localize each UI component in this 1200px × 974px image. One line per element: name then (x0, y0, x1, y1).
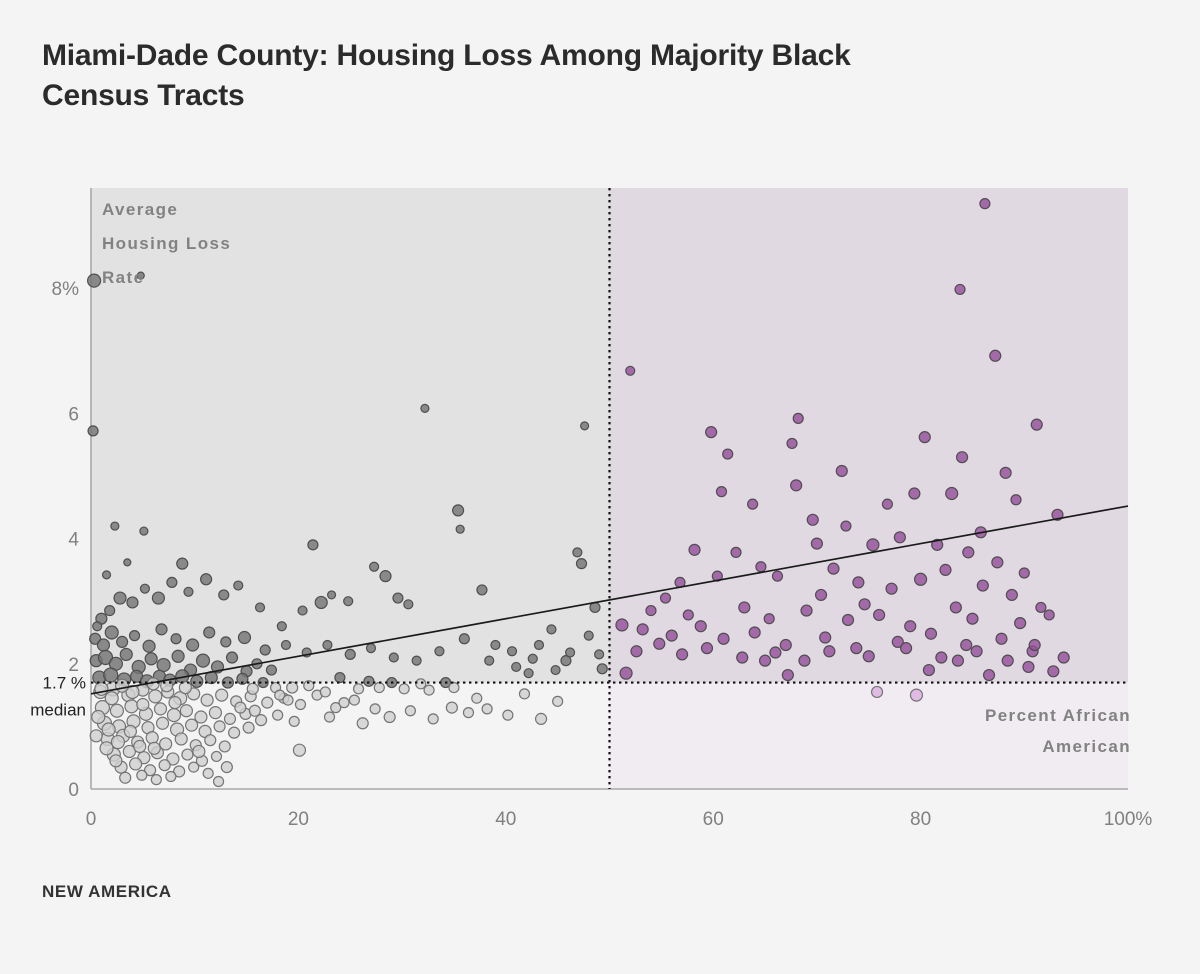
data-point (706, 427, 717, 438)
data-point (219, 741, 230, 752)
data-point (910, 689, 922, 701)
data-point (145, 653, 157, 665)
data-point (289, 716, 299, 726)
data-point (393, 593, 403, 603)
data-point (235, 702, 246, 713)
data-point (992, 557, 1003, 568)
data-point (793, 413, 803, 423)
chart-plot-area: 02468%020406080100%AverageHousing LossRa… (0, 0, 1200, 974)
data-point (273, 710, 283, 720)
data-point (116, 679, 129, 692)
data-point (370, 562, 379, 571)
data-point (421, 404, 429, 412)
data-point (182, 749, 193, 760)
data-point (683, 610, 693, 620)
data-point (772, 571, 782, 581)
data-point (977, 580, 988, 591)
data-point (238, 632, 250, 644)
data-point (281, 641, 290, 650)
data-point (867, 539, 879, 551)
data-point (482, 704, 492, 714)
data-point (701, 643, 712, 654)
data-point (120, 772, 131, 783)
data-point (298, 606, 307, 615)
data-point (187, 639, 199, 651)
data-point (841, 521, 851, 531)
data-point (100, 742, 113, 755)
data-point (117, 636, 128, 647)
data-point (295, 699, 305, 709)
data-point (807, 514, 818, 525)
data-point (111, 522, 119, 530)
scatter-chart-svg: 02468%020406080100%AverageHousing LossRa… (0, 0, 1200, 974)
data-point (863, 651, 874, 662)
data-point (97, 639, 109, 651)
y-tick-label: 6 (68, 404, 79, 425)
data-point (581, 422, 589, 430)
data-point (354, 684, 364, 694)
data-point (260, 645, 270, 655)
data-point (936, 652, 947, 663)
data-point (851, 643, 862, 654)
data-point (90, 730, 102, 742)
data-point (534, 641, 543, 650)
data-point (547, 625, 556, 634)
data-point (620, 667, 632, 679)
y-tick-label: 4 (68, 530, 79, 551)
data-point (971, 646, 982, 657)
data-point (428, 714, 438, 724)
data-point (689, 544, 700, 555)
data-point (787, 438, 797, 448)
data-point (130, 631, 140, 641)
data-point (894, 532, 905, 543)
data-point (780, 640, 791, 651)
data-point (799, 655, 810, 666)
data-point (584, 631, 593, 640)
data-point (886, 583, 897, 594)
data-point (782, 670, 793, 681)
data-point (227, 652, 238, 663)
data-point (216, 689, 228, 701)
data-point (984, 670, 995, 681)
data-point (731, 547, 741, 557)
data-point (940, 564, 951, 575)
data-point (459, 634, 469, 644)
data-point (955, 284, 965, 294)
data-point (1011, 495, 1021, 505)
data-point (110, 704, 123, 717)
data-point (151, 775, 161, 785)
y-tick-label: 0 (68, 780, 79, 801)
data-point (723, 449, 733, 459)
data-point (88, 426, 98, 436)
data-point (157, 717, 169, 729)
data-point (152, 592, 164, 604)
data-point (748, 499, 758, 509)
data-point (167, 709, 180, 722)
data-point (345, 649, 355, 659)
data-point (456, 525, 464, 533)
data-point (1036, 602, 1046, 612)
data-point (553, 696, 563, 706)
data-point (124, 725, 136, 737)
x-tick-label: 40 (495, 809, 516, 830)
data-point (308, 540, 318, 550)
data-point (277, 622, 286, 631)
data-point (828, 563, 839, 574)
data-point (175, 733, 187, 745)
data-point (449, 683, 459, 693)
data-point (980, 199, 990, 209)
data-point (915, 573, 927, 585)
data-point (191, 675, 203, 687)
data-point (374, 683, 384, 693)
data-point (243, 722, 254, 733)
data-point (315, 596, 327, 608)
data-point (189, 762, 199, 772)
data-point (125, 700, 138, 713)
data-point (134, 740, 146, 752)
data-point (677, 649, 688, 660)
data-point (961, 640, 972, 651)
data-point (508, 647, 517, 656)
data-point (631, 646, 642, 657)
data-point (157, 659, 170, 672)
data-point (249, 705, 260, 716)
data-point (528, 654, 537, 663)
data-point (105, 626, 118, 639)
data-point (963, 547, 974, 558)
data-point (737, 652, 748, 663)
data-point (154, 703, 166, 715)
data-point (287, 682, 298, 693)
data-point (718, 633, 729, 644)
data-point (843, 614, 854, 625)
x-tick-label: 0 (86, 809, 97, 830)
data-point (335, 673, 345, 683)
data-point (149, 690, 162, 703)
data-point (124, 559, 131, 566)
data-point (399, 684, 409, 694)
data-point (749, 627, 760, 638)
data-point (503, 710, 513, 720)
data-point (177, 558, 188, 569)
data-point (491, 641, 500, 650)
data-point (328, 591, 336, 599)
data-point (201, 574, 212, 585)
data-point (364, 676, 374, 686)
x-tick-label: 80 (910, 809, 931, 830)
data-point (247, 683, 258, 694)
data-point (209, 707, 221, 719)
data-point (946, 488, 958, 500)
data-point (214, 776, 224, 786)
data-point (172, 650, 184, 662)
data-point (453, 505, 464, 516)
data-point (370, 704, 380, 714)
data-point (262, 697, 273, 708)
data-point (325, 712, 335, 722)
data-point (905, 621, 916, 632)
data-point (760, 655, 771, 666)
data-point (1015, 618, 1026, 629)
data-point (595, 650, 604, 659)
data-point (770, 647, 781, 658)
data-point (882, 499, 892, 509)
data-point (127, 597, 138, 608)
data-point (323, 641, 332, 650)
data-point (357, 718, 368, 729)
data-point (137, 698, 149, 710)
data-point (366, 644, 375, 653)
data-point (88, 274, 101, 287)
data-point (446, 702, 457, 713)
data-point (923, 665, 934, 676)
data-point (919, 432, 930, 443)
data-point (637, 624, 648, 635)
data-point (616, 619, 628, 631)
data-point (204, 627, 215, 638)
data-point (577, 559, 587, 569)
data-point (536, 713, 547, 724)
data-point (646, 606, 656, 616)
data-point (925, 628, 936, 639)
data-point (389, 653, 398, 662)
quadrant-upper-left (91, 188, 610, 683)
x-tick-label: 100% (1104, 809, 1153, 830)
data-point (524, 669, 533, 678)
data-point (193, 745, 205, 757)
data-point (435, 647, 444, 656)
data-point (836, 465, 847, 476)
data-point (102, 723, 115, 736)
data-point (180, 705, 192, 717)
data-point (103, 571, 111, 579)
data-point (1029, 640, 1040, 651)
data-point (221, 637, 231, 647)
brand-logo: NEW AMERICA (42, 882, 172, 902)
data-point (339, 698, 349, 708)
data-point (1058, 652, 1069, 663)
data-point (105, 606, 115, 616)
data-point (256, 603, 265, 612)
data-point (140, 584, 149, 593)
data-point (756, 562, 766, 572)
data-point (105, 692, 118, 705)
data-point (566, 648, 575, 657)
data-point (320, 687, 330, 697)
data-point (293, 744, 305, 756)
data-point (159, 760, 170, 771)
data-point (1019, 568, 1029, 578)
data-point (171, 634, 181, 644)
data-point (853, 577, 864, 588)
data-point (205, 735, 216, 746)
data-point (512, 662, 521, 671)
x-tick-label: 20 (288, 809, 309, 830)
data-point (1048, 666, 1059, 677)
data-point (872, 686, 883, 697)
data-point (167, 577, 177, 587)
data-point (234, 581, 243, 590)
data-point (764, 614, 774, 624)
data-point (219, 590, 229, 600)
data-point (472, 693, 482, 703)
data-point (224, 713, 235, 724)
data-point (130, 758, 142, 770)
data-point (463, 708, 473, 718)
data-point (957, 452, 968, 463)
data-point (169, 697, 181, 709)
data-point (146, 732, 158, 744)
data-point (137, 770, 147, 780)
y-tick-label: 8% (52, 279, 80, 300)
data-point (283, 695, 293, 705)
data-point (1002, 655, 1013, 666)
data-point (404, 600, 413, 609)
data-point (901, 643, 912, 654)
data-point (824, 646, 835, 657)
data-point (519, 689, 529, 699)
data-point (197, 654, 210, 667)
data-point (811, 538, 822, 549)
data-point (203, 768, 213, 778)
data-point (739, 602, 750, 613)
data-point (597, 664, 607, 674)
data-point (950, 602, 961, 613)
data-point (148, 742, 160, 754)
data-point (820, 632, 831, 643)
data-point (380, 571, 391, 582)
x-tick-label: 60 (703, 809, 724, 830)
data-point (1023, 661, 1034, 672)
data-point (573, 548, 582, 557)
data-point (816, 589, 827, 600)
data-point (477, 585, 487, 595)
data-point (229, 727, 240, 738)
data-point (266, 665, 276, 675)
data-point (626, 366, 635, 375)
data-point (424, 685, 434, 695)
data-point (859, 599, 870, 610)
data-point (967, 613, 978, 624)
data-point (791, 480, 802, 491)
quadrant-lower-right (610, 683, 1129, 789)
data-point (412, 656, 421, 665)
data-point (990, 350, 1001, 361)
data-point (384, 712, 395, 723)
data-point (405, 706, 415, 716)
data-point (143, 640, 155, 652)
data-point (186, 719, 198, 731)
data-point (952, 655, 963, 666)
median-word-label: median (30, 701, 86, 720)
data-point (92, 711, 105, 724)
data-point (909, 488, 920, 499)
data-point (110, 755, 122, 767)
data-point (996, 633, 1007, 644)
median-value-label: 1.7 % (43, 674, 86, 693)
data-point (166, 771, 176, 781)
data-point (654, 638, 665, 649)
data-point (104, 668, 118, 682)
data-point (1044, 610, 1054, 620)
data-point (156, 624, 167, 635)
data-point (211, 751, 221, 761)
data-point (1000, 467, 1011, 478)
data-point (201, 694, 213, 706)
data-point (114, 592, 126, 604)
data-point (349, 695, 359, 705)
data-point (120, 648, 132, 660)
data-point (1031, 419, 1042, 430)
data-point (551, 666, 560, 675)
data-point (184, 587, 193, 596)
data-point (214, 721, 225, 732)
data-point (801, 605, 812, 616)
data-point (93, 622, 102, 631)
data-point (717, 487, 727, 497)
data-point (221, 762, 232, 773)
data-point (695, 621, 706, 632)
data-point (485, 656, 494, 665)
data-point (140, 527, 148, 535)
data-point (1006, 589, 1017, 600)
data-point (344, 597, 353, 606)
data-point (666, 630, 677, 641)
data-point (874, 609, 885, 620)
data-point (661, 593, 671, 603)
